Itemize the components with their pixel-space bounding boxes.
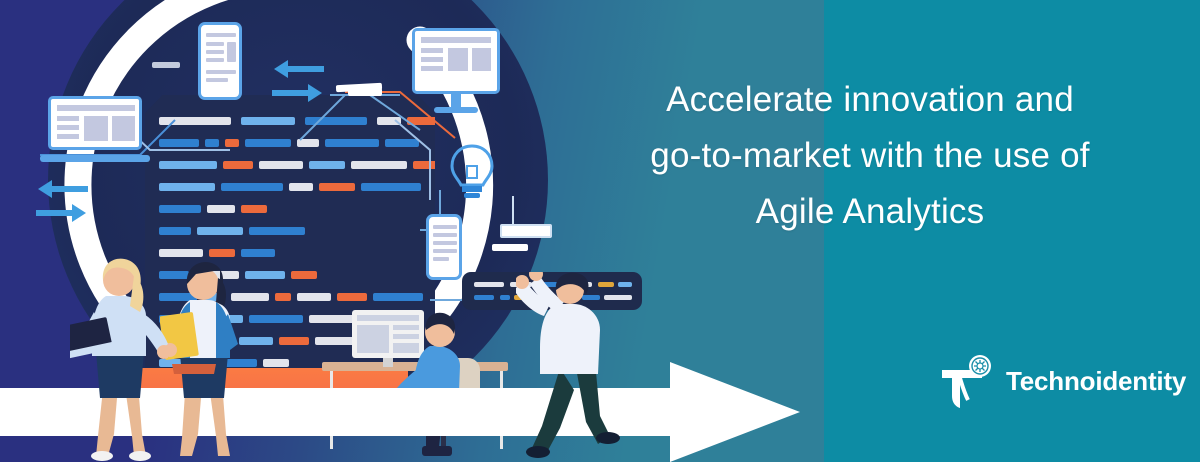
code-line-bar bbox=[377, 117, 401, 125]
code-line-bar bbox=[223, 161, 253, 169]
code-line-bar bbox=[319, 183, 355, 191]
headline-line-3: Agile Analytics bbox=[560, 184, 1180, 240]
code-line-bar bbox=[245, 139, 291, 147]
exchange-arrows-left-icon bbox=[36, 178, 88, 222]
code-line-bar bbox=[297, 139, 319, 147]
technoidentity-t-mark-icon bbox=[938, 352, 1000, 414]
code-line-bar bbox=[289, 183, 313, 191]
code-line-bar bbox=[297, 293, 331, 301]
code-line-bar bbox=[351, 161, 407, 169]
lightbulb-icon bbox=[446, 142, 498, 206]
code-line-bar bbox=[249, 227, 305, 235]
monitor-device-icon bbox=[412, 28, 500, 114]
brand-logo[interactable]: Technoidentity bbox=[938, 352, 1166, 414]
code-line-bar bbox=[337, 293, 367, 301]
code-line-bar bbox=[259, 161, 303, 169]
tray-box-upper bbox=[500, 224, 552, 238]
code-line-bar bbox=[221, 183, 283, 191]
code-line-bar bbox=[291, 271, 317, 279]
person-woman-with-laptop bbox=[70, 256, 168, 462]
code-line-bar bbox=[325, 139, 379, 147]
code-line-bar bbox=[159, 205, 201, 213]
code-line-bar bbox=[225, 139, 239, 147]
brand-wordmark: Technoidentity bbox=[1006, 366, 1186, 397]
code-line-bar bbox=[309, 161, 345, 169]
exchange-arrows-icon bbox=[272, 58, 324, 102]
headline-line-1: Accelerate innovation and bbox=[560, 72, 1180, 128]
ring-tag-left bbox=[152, 62, 180, 68]
code-line-bar bbox=[159, 161, 217, 169]
code-line-bar bbox=[159, 117, 231, 125]
code-line-bar bbox=[159, 139, 199, 147]
code-line-bar bbox=[159, 227, 191, 235]
code-line-bar bbox=[197, 227, 243, 235]
marketing-banner: Accelerate innovation and go-to-market w… bbox=[0, 0, 1200, 462]
headline-line-2: go-to-market with the use of bbox=[560, 128, 1180, 184]
code-line-bar bbox=[241, 205, 267, 213]
code-line-bar bbox=[385, 139, 419, 147]
code-line-bar bbox=[474, 282, 504, 287]
tray-box-lower bbox=[492, 244, 528, 251]
code-line-bar bbox=[209, 249, 235, 257]
code-line-bar bbox=[241, 249, 275, 257]
code-line-bar bbox=[275, 293, 291, 301]
code-line-bar bbox=[245, 271, 285, 279]
headline: Accelerate innovation and go-to-market w… bbox=[560, 72, 1180, 240]
tray-stem bbox=[512, 196, 514, 224]
code-line-bar bbox=[207, 205, 235, 213]
code-line-bar bbox=[361, 183, 421, 191]
code-line-bar bbox=[305, 117, 367, 125]
laptop-device-icon bbox=[48, 96, 142, 158]
code-line-bar bbox=[500, 295, 510, 300]
phone-device-small-icon bbox=[426, 214, 462, 280]
code-line-bar bbox=[205, 139, 219, 147]
code-line-bar bbox=[241, 117, 295, 125]
person-woman-with-folder bbox=[160, 258, 246, 462]
code-line-bar bbox=[263, 359, 289, 367]
code-line-bar bbox=[249, 315, 303, 323]
phone-device-icon bbox=[198, 22, 242, 100]
code-line-bar bbox=[279, 337, 309, 345]
person-walking-analyst bbox=[516, 272, 632, 462]
code-line-bar bbox=[159, 183, 215, 191]
